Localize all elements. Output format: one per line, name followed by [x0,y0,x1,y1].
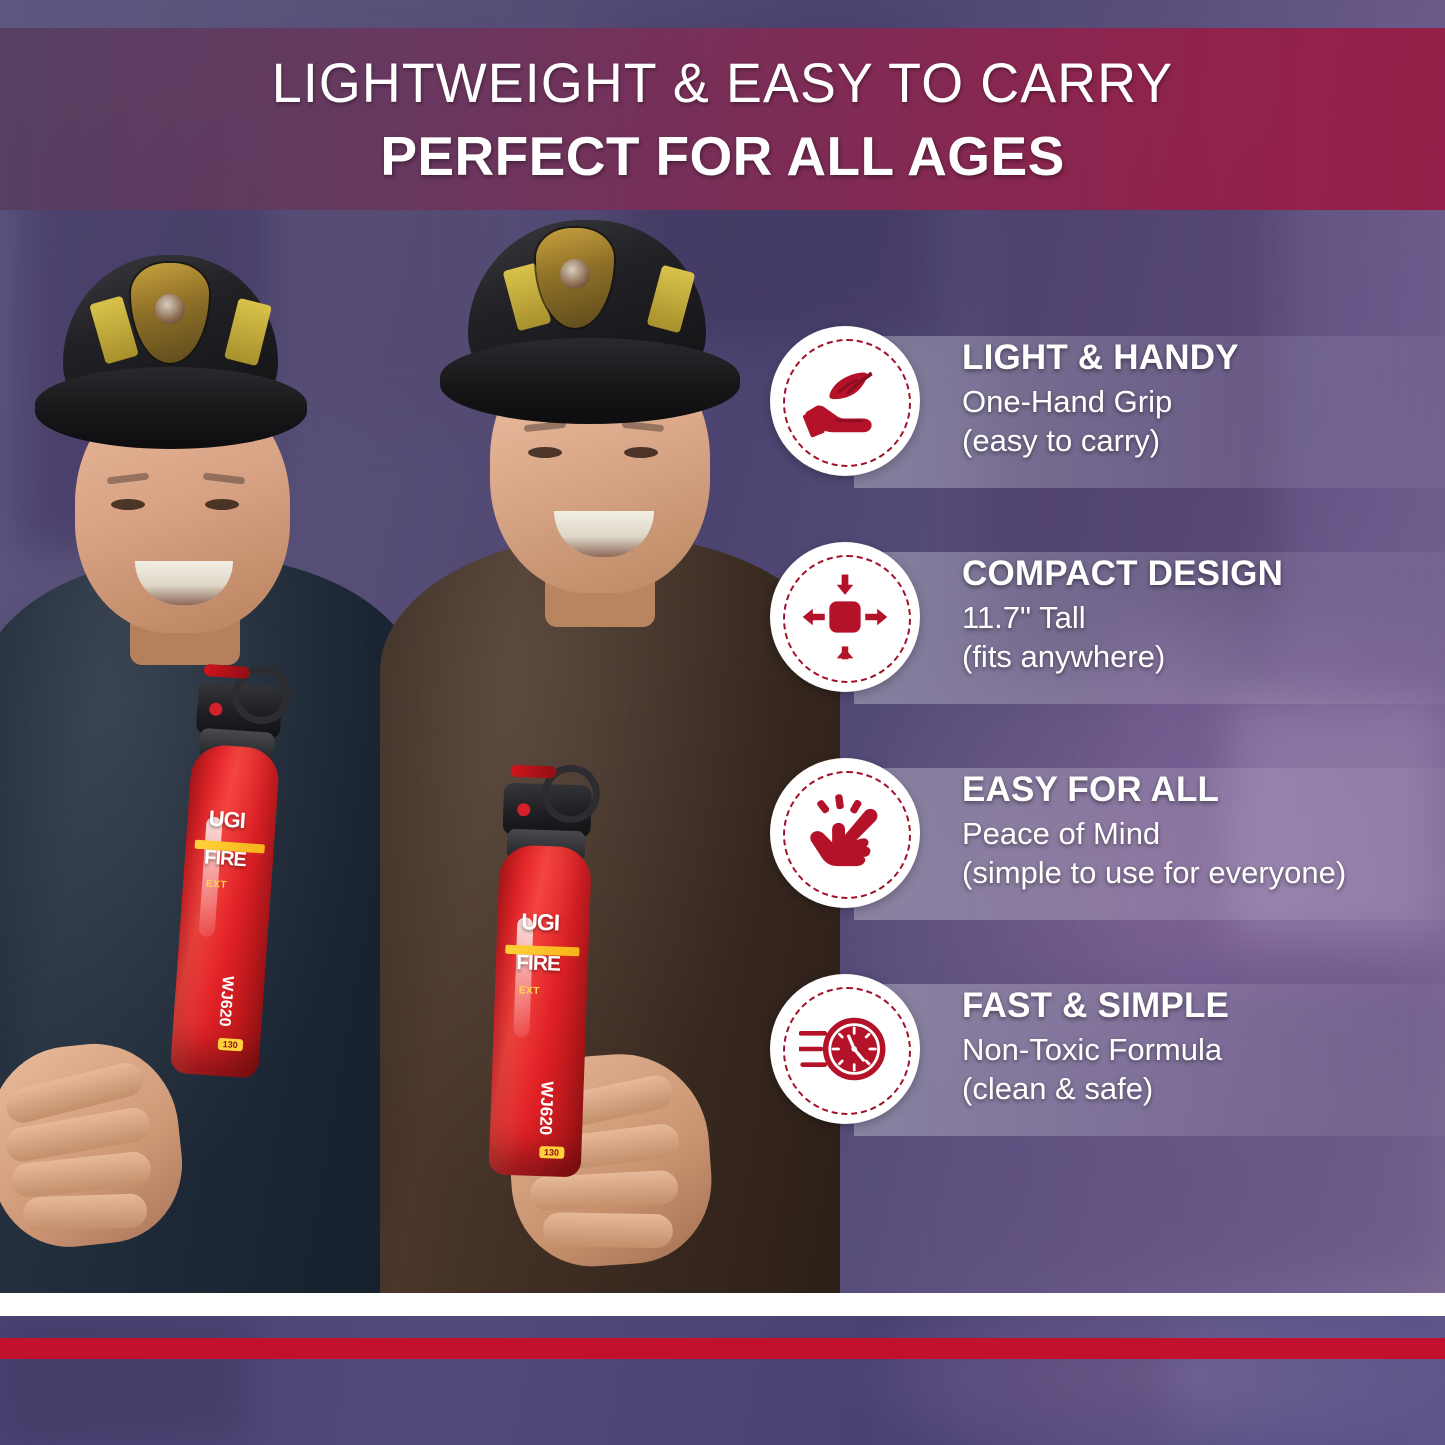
feature-title: EASY FOR ALL [962,772,1439,809]
safety-pin [510,765,556,779]
feature-icon-badge [770,974,920,1124]
product-sub: EXT [519,985,540,997]
fire-helmet [440,220,740,420]
product-code: WJ620 [214,975,235,1027]
feature-note: (clean & safe) [962,1070,1439,1107]
header-line-1: LIGHTWEIGHT & EASY TO CARRY [272,50,1173,115]
feature-subtitle: Peace of Mind [962,815,1439,852]
fire-helmet [35,255,307,451]
header-banner: LIGHTWEIGHT & EASY TO CARRY PERFECT FOR … [0,28,1445,210]
product-code: WJ620 [534,1081,556,1136]
feature-text: EASY FOR ALL Peace of Mind (simple to us… [962,772,1439,891]
feature-list: LIGHT & HANDY One-Hand Grip (easy to car… [762,322,1445,1186]
product-feature-image: UGI FIRE EXT WJ620 130 UGI FIRE EXT WJ62… [0,0,1445,1445]
product-sub: EXT [206,879,228,891]
feature-light-and-handy: LIGHT & HANDY One-Hand Grip (easy to car… [762,322,1445,538]
footer-band [0,1316,1445,1445]
fast-clock-icon [799,1003,891,1095]
feature-title: FAST & SIMPLE [962,988,1439,1025]
header-line-2: PERFECT FOR ALL AGES [380,124,1064,188]
product-brand: UGI [208,809,245,832]
white-divider-strip [0,1293,1445,1316]
feature-title: LIGHT & HANDY [962,340,1439,377]
fire-extinguisher-right: UGI FIRE EXT WJ620 130 [488,789,594,1192]
product-line: FIRE [516,953,560,974]
feather-in-hand-icon [799,355,891,447]
product-brand: UGI [521,911,560,933]
feature-text: LIGHT & HANDY One-Hand Grip (easy to car… [962,340,1439,459]
feature-title: COMPACT DESIGN [962,556,1439,593]
feature-easy-for-all: EASY FOR ALL Peace of Mind (simple to us… [762,754,1445,970]
red-accent-bar [0,1338,1445,1359]
feature-subtitle: 11.7" Tall [962,599,1439,636]
feature-subtitle: One-Hand Grip [962,383,1439,420]
feature-icon-badge [770,326,920,476]
compress-arrows-icon [799,571,891,663]
feature-note: (fits anywhere) [962,638,1439,675]
extinguisher-canister: UGI FIRE EXT WJ620 130 [489,844,592,1177]
feature-note: (simple to use for everyone) [962,854,1439,891]
feature-icon-badge [770,758,920,908]
feature-compact-design: COMPACT DESIGN 11.7" Tall (fits anywhere… [762,538,1445,754]
feature-text: FAST & SIMPLE Non-Toxic Formula (clean &… [962,988,1439,1107]
feature-fast-and-simple: FAST & SIMPLE Non-Toxic Formula (clean &… [762,970,1445,1186]
product-line: FIRE [204,848,247,869]
pointing-hand-tap-icon [799,787,891,879]
feature-note: (easy to carry) [962,422,1439,459]
feature-text: COMPACT DESIGN 11.7" Tall (fits anywhere… [962,556,1439,675]
feature-icon-badge [770,542,920,692]
feature-subtitle: Non-Toxic Formula [962,1031,1439,1068]
product-badge: 130 [539,1146,564,1159]
product-badge: 130 [217,1038,243,1052]
